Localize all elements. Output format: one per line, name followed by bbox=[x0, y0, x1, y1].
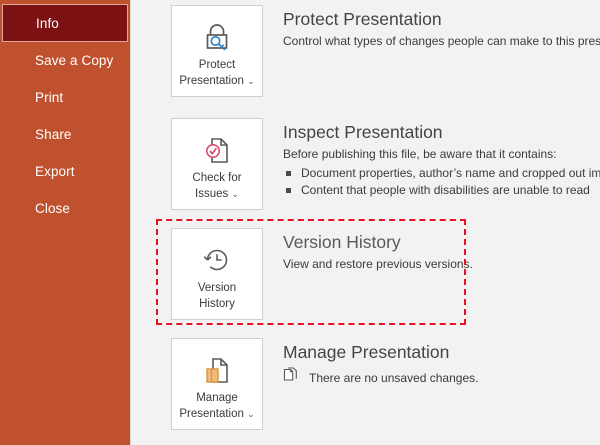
sidebar-item-label: Share bbox=[35, 127, 72, 142]
manage-status-text: There are no unsaved changes. bbox=[309, 371, 478, 385]
manage-text-block: Manage Presentation There are no unsaved… bbox=[283, 338, 478, 388]
sidebar-item-label: Save a Copy bbox=[35, 53, 113, 68]
protect-presentation-section: Protect Presentation ⌄ Protect Presentat… bbox=[171, 5, 600, 97]
list-item: Content that people with disabilities ar… bbox=[283, 182, 600, 199]
manage-button-label-line2: Presentation bbox=[179, 408, 244, 420]
version-title: Version History bbox=[283, 231, 473, 253]
protect-button-label-line2: Presentation bbox=[179, 75, 244, 87]
protect-text-block: Protect Presentation Control what types … bbox=[283, 5, 600, 50]
protect-presentation-button[interactable]: Protect Presentation ⌄ bbox=[171, 5, 263, 97]
version-description: View and restore previous versions. bbox=[283, 256, 473, 273]
list-item: Document properties, author’s name and c… bbox=[283, 165, 600, 182]
chevron-down-icon: ⌄ bbox=[247, 76, 255, 86]
manage-presentation-button[interactable]: Manage Presentation ⌄ bbox=[171, 338, 263, 430]
version-history-button[interactable]: Version History bbox=[171, 228, 263, 320]
document-check-icon bbox=[199, 131, 235, 169]
version-history-section: Version History Version History View and… bbox=[171, 228, 473, 320]
backstage-sidebar: Info Save a Copy Print Share Export Clos… bbox=[0, 0, 130, 445]
protect-button-label-line1: Protect bbox=[199, 58, 235, 72]
sidebar-item-share[interactable]: Share bbox=[0, 116, 130, 153]
manage-title: Manage Presentation bbox=[283, 341, 478, 363]
version-text-block: Version History View and restore previou… bbox=[283, 228, 473, 273]
sidebar-item-label: Info bbox=[36, 16, 59, 31]
lock-key-icon bbox=[199, 18, 235, 56]
manage-button-label-line1: Manage bbox=[196, 391, 238, 405]
manage-status-row: There are no unsaved changes. bbox=[283, 367, 478, 388]
sidebar-item-close[interactable]: Close bbox=[0, 190, 130, 227]
inspect-title: Inspect Presentation bbox=[283, 121, 600, 143]
check-for-issues-button[interactable]: Check for Issues ⌄ bbox=[171, 118, 263, 210]
check-button-label-line1: Check for bbox=[192, 171, 241, 185]
inspect-presentation-section: Check for Issues ⌄ Inspect Presentation … bbox=[171, 118, 600, 210]
chevron-down-icon: ⌄ bbox=[247, 409, 255, 419]
manage-presentation-section: Manage Presentation ⌄ Manage Presentatio… bbox=[171, 338, 478, 430]
inspect-bullet-text: Document properties, author’s name and c… bbox=[301, 166, 600, 180]
inspect-text-block: Inspect Presentation Before publishing t… bbox=[283, 118, 600, 199]
check-button-label-line2: Issues bbox=[195, 188, 228, 200]
square-bullet-icon bbox=[286, 188, 291, 193]
sidebar-item-info[interactable]: Info bbox=[2, 4, 128, 42]
inspect-description: Before publishing this file, be aware th… bbox=[283, 146, 600, 163]
version-button-label-line2: History bbox=[199, 297, 235, 311]
protect-description: Control what types of changes people can… bbox=[283, 33, 600, 50]
sidebar-item-export[interactable]: Export bbox=[0, 153, 130, 190]
sidebar-item-label: Close bbox=[35, 201, 70, 216]
copy-pages-icon bbox=[283, 367, 298, 388]
protect-title: Protect Presentation bbox=[283, 8, 600, 30]
sidebar-item-print[interactable]: Print bbox=[0, 79, 130, 116]
chevron-down-icon: ⌄ bbox=[231, 189, 239, 199]
clock-history-icon bbox=[199, 241, 235, 279]
info-pane: Protect Presentation ⌄ Protect Presentat… bbox=[131, 0, 600, 445]
version-button-label-line1: Version bbox=[198, 281, 236, 295]
inspect-bullet-text: Content that people with disabilities ar… bbox=[301, 183, 590, 197]
inspect-bullet-list: Document properties, author’s name and c… bbox=[283, 165, 600, 199]
document-folder-icon bbox=[199, 351, 235, 389]
sidebar-item-label: Export bbox=[35, 164, 75, 179]
sidebar-item-save-a-copy[interactable]: Save a Copy bbox=[0, 42, 130, 79]
square-bullet-icon bbox=[286, 171, 291, 176]
sidebar-item-label: Print bbox=[35, 90, 63, 105]
